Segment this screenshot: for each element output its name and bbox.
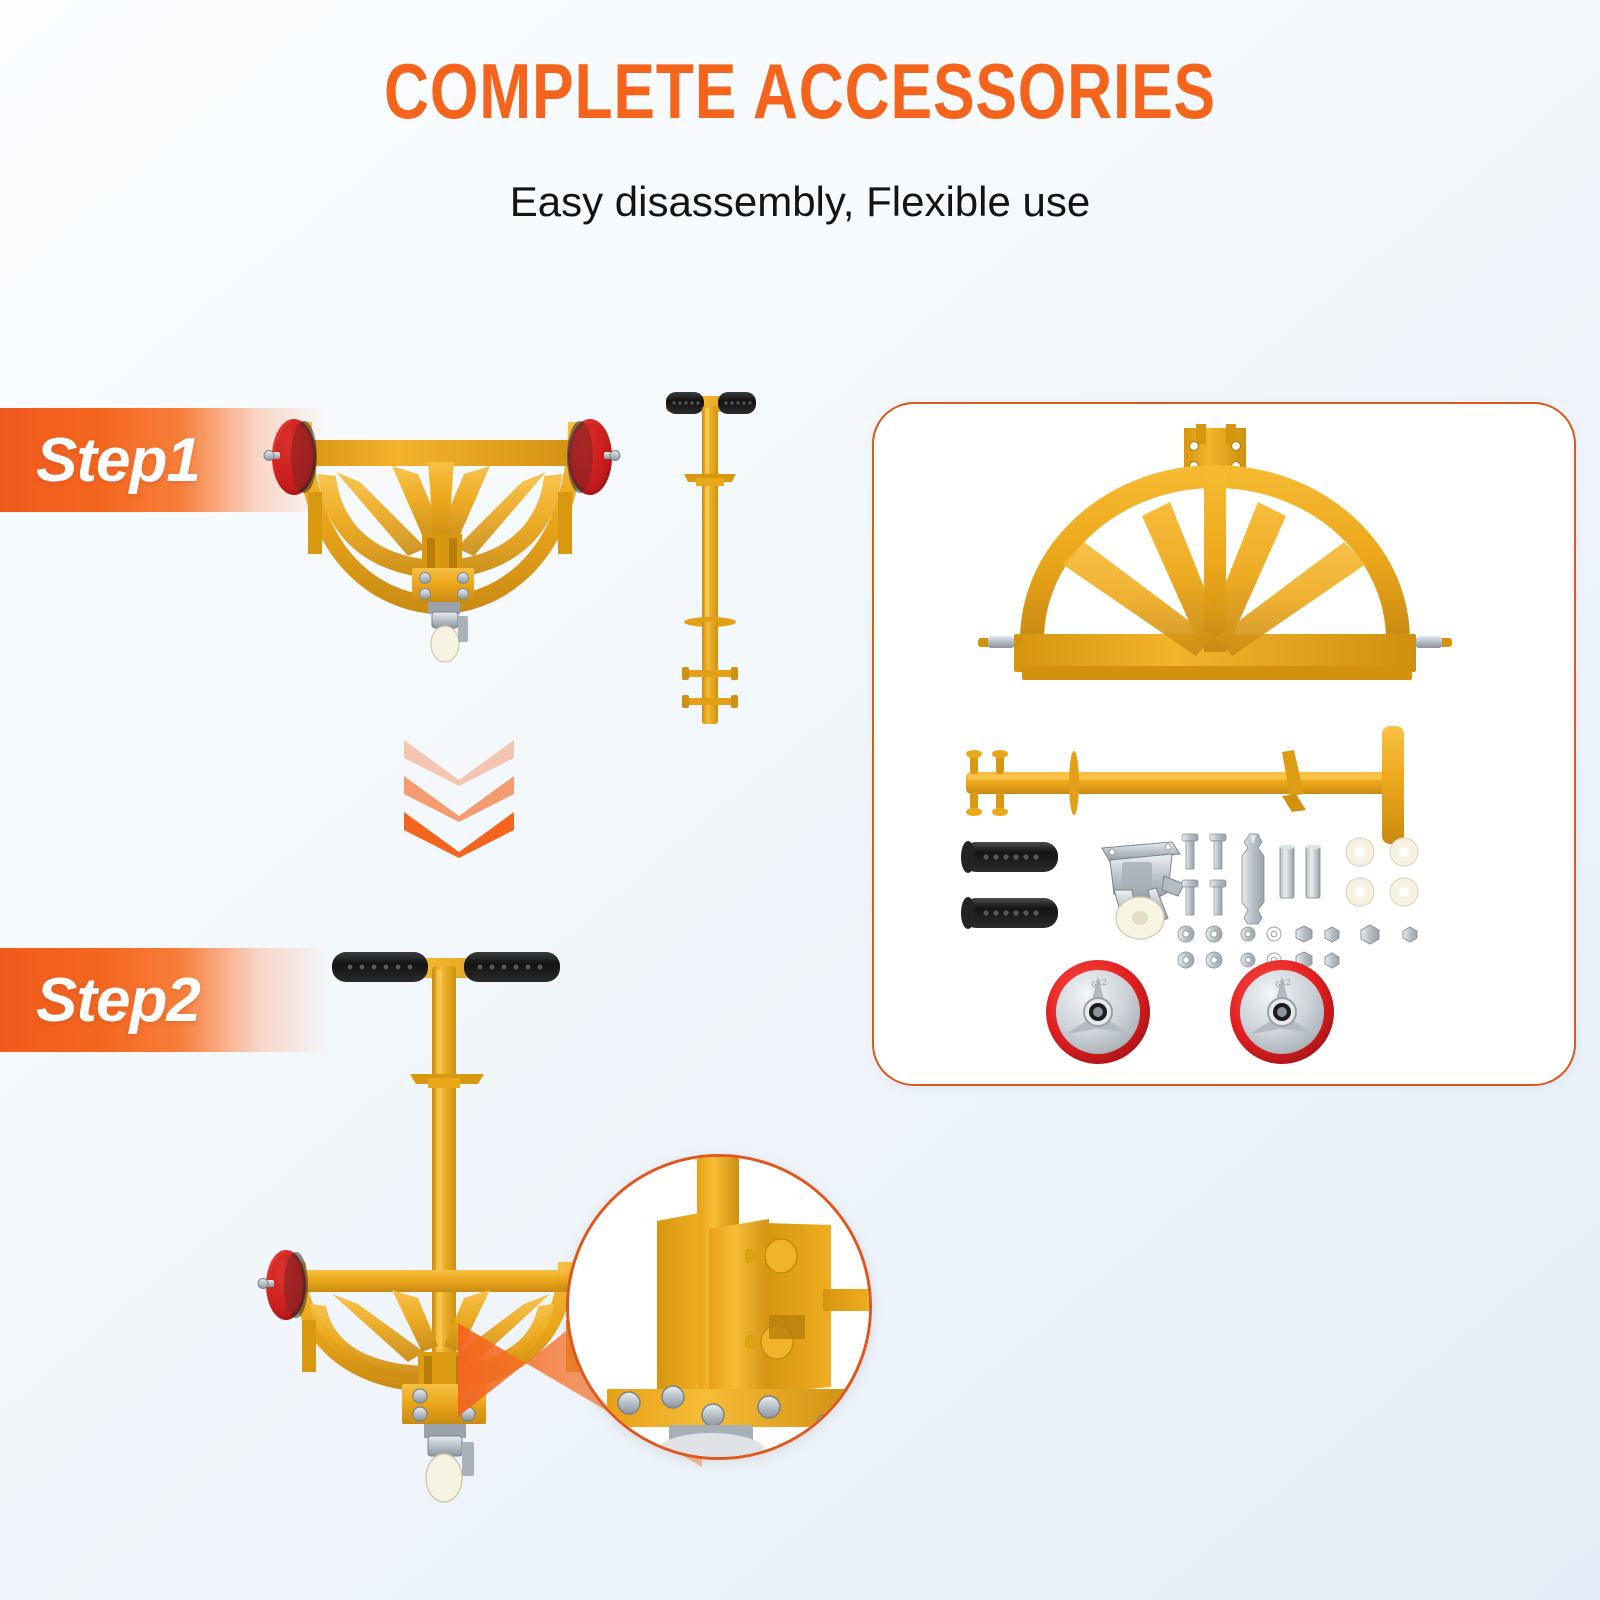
infographic-stage: COMPLETE ACCESSORIES Easy disassembly, F… (0, 0, 1600, 1600)
step-2-label: Step2 (36, 965, 200, 1036)
t-handle-bar-vertical (640, 382, 780, 754)
step-1-label: Step1 (36, 425, 200, 496)
chevron-down-icon (404, 812, 514, 858)
poly-wheel-pair: 6X2 6X2 (1042, 956, 1362, 1068)
flow-arrows (404, 740, 514, 860)
rubber-grip-pair (958, 836, 1068, 942)
page-title: COMPLETE ACCESSORIES (160, 52, 1440, 130)
accessories-panel: 6X2 6X2 (872, 402, 1576, 1086)
semicircular-drum-frame (934, 424, 1514, 714)
hardware-kit (1174, 830, 1464, 970)
drum-cradle-frame (232, 382, 652, 702)
page-subtitle: Easy disassembly, Flexible use (0, 178, 1600, 226)
bracket-pin-detail (566, 1154, 872, 1460)
